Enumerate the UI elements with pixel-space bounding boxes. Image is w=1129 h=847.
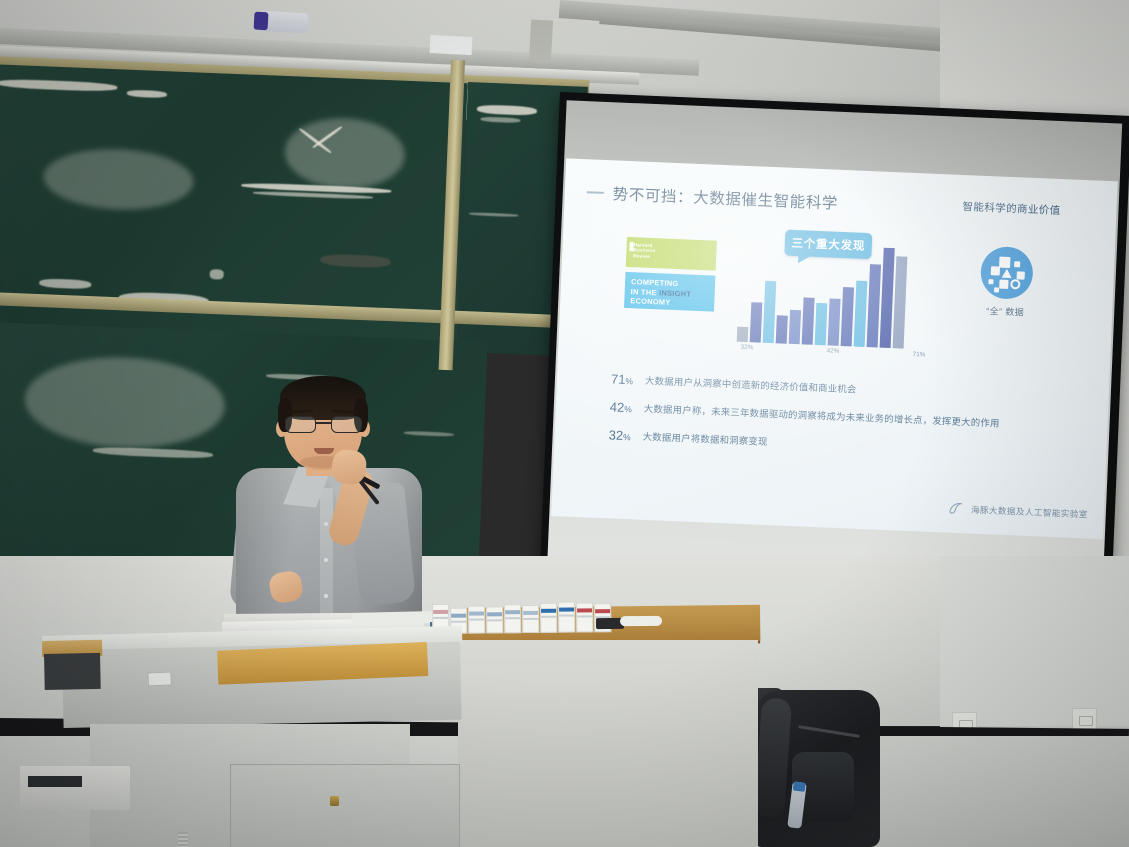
page-title: 势不可挡：大数据催生智能科学: [612, 182, 838, 213]
competing-text: COMPETING IN THE INSIGHT ECONOMY: [630, 277, 692, 308]
chart-region: Harvard Business Review COMPETING IN THE…: [558, 220, 1115, 383]
statistic-percent: 42%: [610, 400, 645, 416]
ledge-box: [430, 35, 473, 55]
lower-wall-right: [940, 556, 1129, 726]
bar-axis-tick: 32%: [740, 344, 753, 352]
bar-chart-bar: [763, 280, 777, 343]
bar-chart-bar: [867, 264, 881, 348]
data-shapes-circle-icon: [980, 246, 1034, 300]
medicine-box: [504, 604, 521, 633]
paper-sheet: [352, 611, 434, 625]
all-data-icon-group: “全” 数据: [960, 245, 1053, 320]
statistics-list: 71%大数据用户从洞察中创造新的经济价值和商业机会42%大数据用户称，未来三年数…: [608, 372, 1081, 476]
lab-name-label: 海豚大数据及人工智能实验室: [971, 504, 1088, 521]
statistic-percent: 71%: [611, 372, 646, 388]
bar-chart-bar: [841, 287, 854, 347]
slide-footer: 海豚大数据及人工智能实验室: [948, 501, 1088, 523]
bar-chart-bar: [776, 315, 788, 344]
medicine-box: [558, 602, 575, 633]
podium-lock-icon[interactable]: [330, 796, 339, 806]
statistic-text: 大数据用户称，未来三年数据驱动的洞察将成为未来业务的增长点，发挥更大的作用: [644, 402, 1000, 431]
medicine-box: [540, 603, 557, 633]
desk-body: [458, 640, 758, 847]
hbr-text: Harvard Business Review: [633, 242, 656, 259]
desk-tube: [620, 616, 662, 626]
business-value-heading: 智能科学的商业价值: [962, 199, 1093, 219]
bar-axis-tick: 71%: [912, 351, 925, 359]
projector-lens: [28, 776, 82, 787]
medicine-box: [486, 606, 503, 633]
bar-axis-tick: 42%: [826, 347, 839, 355]
bar-chart-bar: [789, 309, 801, 344]
title-dash-icon: [587, 191, 604, 194]
bar-chart: [737, 242, 908, 349]
percent-sign: %: [623, 432, 631, 442]
bar-chart-bar: [854, 281, 868, 347]
water-bottle-icon: [256, 11, 309, 34]
dolphin-logo-icon: [948, 501, 966, 518]
medicine-box: [522, 605, 539, 633]
statistic-row: 32%大数据用户将数据和洞察变现: [608, 428, 1078, 463]
podium: [30, 636, 460, 847]
podium-face: [62, 642, 462, 728]
medicine-box: [576, 602, 593, 632]
podium-label-plate: [147, 671, 172, 686]
slide-title-row: 势不可挡：大数据催生智能科学: [586, 181, 838, 214]
backpack-strap: [754, 697, 792, 819]
backpack-zipper: [798, 725, 860, 738]
projector-unit: [20, 766, 130, 810]
medicine-box: [468, 605, 485, 633]
lecture-photo-scene: 势不可挡：大数据催生智能科学 Harvard Business Review: [0, 0, 1129, 847]
bar-chart-bar: [815, 303, 828, 345]
bar-chart-bar: [802, 298, 815, 345]
statistic-text: 大数据用户将数据和洞察变现: [642, 430, 768, 449]
mouth: [314, 448, 334, 454]
presentation-slide: 势不可挡：大数据催生智能科学 Harvard Business Review: [551, 158, 1118, 539]
podium-cabinet-door[interactable]: [230, 764, 460, 847]
publication-logos: Harvard Business Review COMPETING IN THE…: [624, 237, 717, 312]
bar-axis-labels: 32%42%71%: [736, 344, 941, 365]
presenter: [228, 372, 428, 640]
statistic-percent: 32%: [608, 428, 643, 444]
bar-chart-bar: [750, 303, 763, 343]
podium-wood-panel: [217, 642, 428, 685]
percent-sign: %: [624, 404, 632, 414]
bar-chart-bar: [893, 257, 908, 349]
podium-vent: [178, 832, 188, 847]
statistic-row: 42%大数据用户称，未来三年数据驱动的洞察将成为未来业务的增长点，发挥更大的作用: [610, 400, 1080, 435]
glasses-icon: [284, 416, 364, 434]
wall-plate: [529, 19, 553, 62]
podium-recess: [44, 653, 101, 690]
podium-column: [90, 724, 410, 847]
all-data-caption: “全” 数据: [960, 303, 1050, 320]
percent-sign: %: [625, 376, 633, 386]
bar-chart-bar: [737, 327, 749, 342]
statistic-text: 大数据用户从洞察中创造新的经济价值和商业机会: [645, 374, 857, 397]
bar-chart-bar: [828, 299, 841, 346]
backpack: [752, 690, 880, 847]
competing-insight-economy-logo: COMPETING IN THE INSIGHT ECONOMY: [624, 272, 715, 312]
harvard-business-review-logo: Harvard Business Review: [626, 237, 717, 271]
projection-screen: 势不可挡：大数据催生智能科学 Harvard Business Review: [539, 92, 1129, 616]
